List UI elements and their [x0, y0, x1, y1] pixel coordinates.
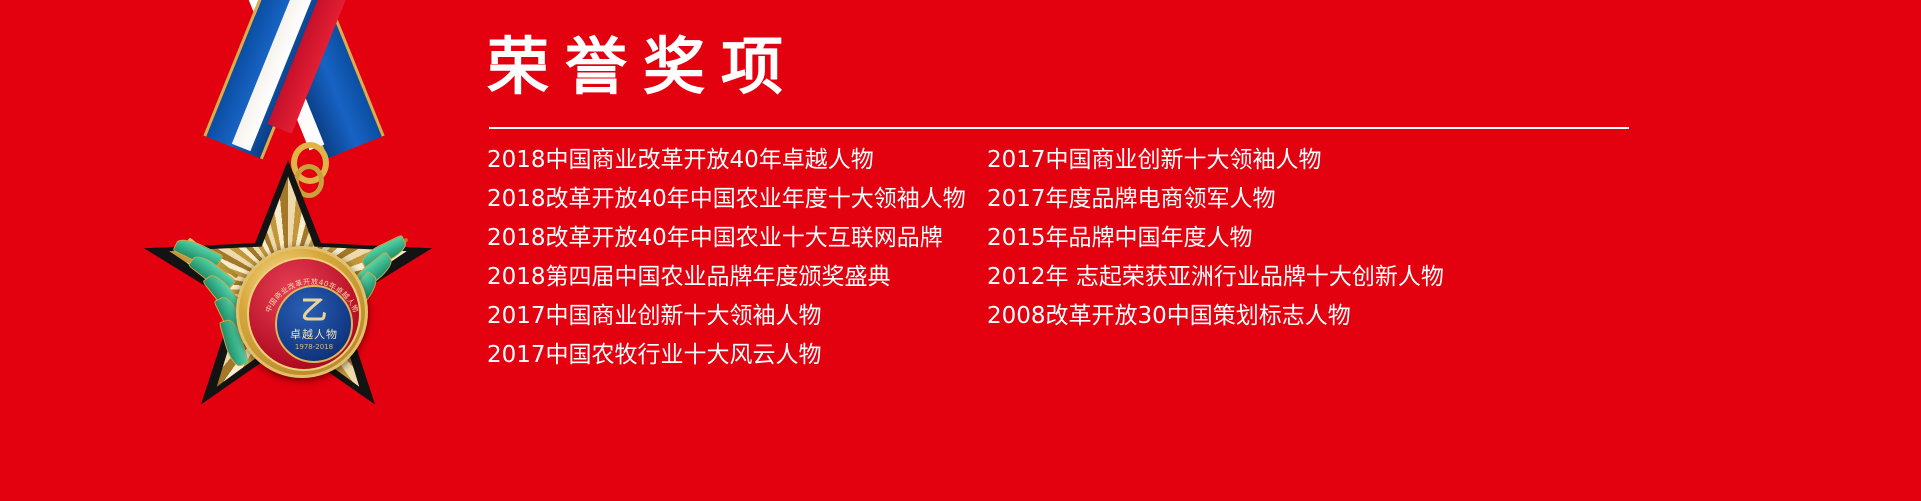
medal-center-label: 卓越人物 — [290, 326, 338, 342]
page-title: 荣誉奖项 — [487, 36, 799, 98]
award-column-left: 2018中国商业改革开放40年卓越人物 2018改革开放40年中国农业年度十大领… — [487, 141, 987, 375]
award-item: 2017中国农牧行业十大风云人物 — [487, 336, 987, 375]
award-item: 2008改革开放30中国策划标志人物 — [987, 297, 1607, 336]
medal-center-years: 1978-2018 — [295, 343, 333, 351]
award-item: 2015年品牌中国年度人物 — [987, 219, 1607, 258]
title-divider — [489, 127, 1629, 129]
medal-emblem-symbol: 乙 — [301, 298, 327, 324]
award-item: 2017中国商业创新十大领袖人物 — [987, 141, 1607, 180]
award-item: 2018改革开放40年中国农业十大互联网品牌 — [487, 219, 987, 258]
award-item: 2012年 志起荣获亚洲行业品牌十大创新人物 — [987, 258, 1607, 297]
award-item: 2018第四届中国农业品牌年度颁奖盛典 — [487, 258, 987, 297]
award-item: 2018中国商业改革开放40年卓越人物 — [487, 141, 987, 180]
medal-star: 中国商业改革开放40年卓越人物 乙 卓越人物 1978-2018 — [138, 160, 438, 412]
medal-center-blue: 乙 卓越人物 1978-2018 — [275, 285, 353, 363]
award-column-right: 2017中国商业创新十大领袖人物 2017年度品牌电商领军人物 2015年品牌中… — [987, 141, 1607, 375]
medal-center: 中国商业改革开放40年卓越人物 乙 卓越人物 1978-2018 — [236, 246, 368, 378]
award-item: 2017年度品牌电商领军人物 — [987, 180, 1607, 219]
medal-image: 中国商业改革开放40年卓越人物 乙 卓越人物 1978-2018 — [128, 0, 458, 412]
award-item: 2017中国商业创新十大领袖人物 — [487, 297, 987, 336]
content-area: 荣誉奖项 2018中国商业改革开放40年卓越人物 2018改革开放40年中国农业… — [487, 0, 1867, 501]
honor-awards-banner: 中国商业改革开放40年卓越人物 乙 卓越人物 1978-2018 荣誉奖项 20… — [0, 0, 1921, 501]
medal-center-red-ring: 中国商业改革开放40年卓越人物 乙 卓越人物 1978-2018 — [247, 257, 361, 371]
award-item: 2018改革开放40年中国农业年度十大领袖人物 — [487, 180, 987, 219]
award-columns: 2018中国商业改革开放40年卓越人物 2018改革开放40年中国农业年度十大领… — [487, 141, 1867, 375]
